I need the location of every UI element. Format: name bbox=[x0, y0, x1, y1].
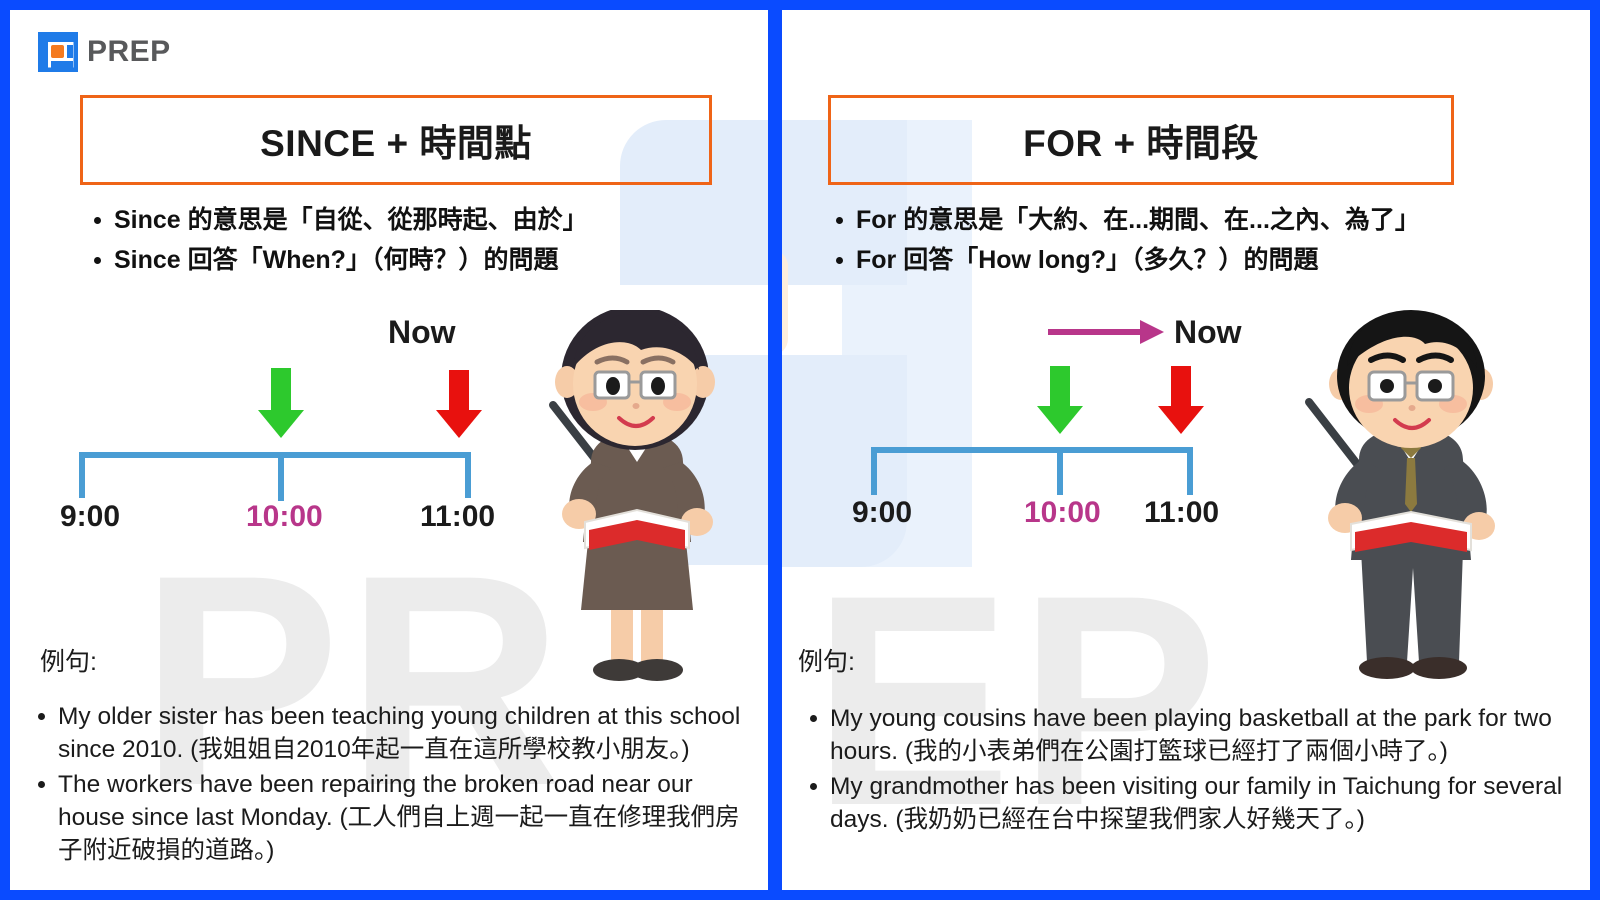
time-tick-label-highlight: 10:00 bbox=[1024, 496, 1101, 530]
definition-bullet: For 的意思是「大約、在...期間、在...之內、為了」 bbox=[830, 200, 1530, 240]
timeline-bracket bbox=[874, 450, 1190, 492]
panel-title: FOR + 時間段 bbox=[1023, 113, 1259, 167]
duration-right-arrow-icon bbox=[1048, 320, 1164, 344]
examples-heading: 例句: bbox=[798, 642, 855, 678]
title-box-since: SINCE + 時間點 bbox=[80, 95, 712, 185]
timeline-diagram-since: Now 9:00 bbox=[60, 310, 530, 560]
example-item: My older sister has been teaching young … bbox=[32, 700, 752, 766]
decorative-peach-shape bbox=[782, 250, 788, 355]
time-tick-label: 11:00 bbox=[1144, 496, 1219, 530]
panel-for: EP FOR + 時間段 For 的意思是「大約、在...期間、在...之內、為… bbox=[782, 10, 1590, 890]
panel-since: PR PREP SINCE + 時間點 Since 的意思是「自從、從那時起、由… bbox=[10, 10, 768, 890]
timeline-bracket bbox=[82, 455, 468, 498]
time-tick-label-highlight: 10:00 bbox=[246, 500, 323, 534]
time-tick-label: 11:00 bbox=[420, 500, 495, 534]
definition-bullet: Since 的意思是「自從、從那時起、由於」 bbox=[88, 200, 728, 240]
definition-bullet: Since 回答「When?」（何時？）的問題 bbox=[88, 240, 728, 280]
definition-bullets: Since 的意思是「自從、從那時起、由於」 Since 回答「When?」（何… bbox=[88, 200, 728, 280]
prep-logo-text: PREP bbox=[87, 35, 171, 69]
red-down-arrow-icon bbox=[436, 370, 482, 438]
prep-logo-icon bbox=[38, 32, 78, 72]
title-box-for: FOR + 時間段 bbox=[828, 95, 1454, 185]
green-down-arrow-icon bbox=[1037, 366, 1083, 434]
example-item: My grandmother has been visiting our fam… bbox=[804, 770, 1579, 836]
prep-logo: PREP bbox=[38, 32, 171, 72]
green-down-arrow-icon bbox=[258, 368, 304, 438]
examples-heading: 例句: bbox=[40, 642, 97, 678]
examples-list: My older sister has been teaching young … bbox=[32, 700, 752, 869]
red-down-arrow-icon bbox=[1158, 366, 1204, 434]
example-item: The workers have been repairing the brok… bbox=[32, 768, 752, 867]
female-teacher-icon bbox=[515, 310, 755, 705]
definition-bullets: For 的意思是「大約、在...期間、在...之內、為了」 For 回答「How… bbox=[830, 200, 1530, 280]
panel-title: SINCE + 時間點 bbox=[260, 113, 532, 167]
definition-bullet: For 回答「How long?」（多久？）的問題 bbox=[830, 240, 1530, 280]
time-tick-label: 9:00 bbox=[60, 500, 120, 534]
infographic-frame: PR PREP SINCE + 時間點 Since 的意思是「自從、從那時起、由… bbox=[0, 0, 1600, 900]
male-teacher-icon bbox=[1287, 310, 1537, 705]
time-tick-label: 9:00 bbox=[852, 496, 912, 530]
timeline-diagram-for: Now bbox=[852, 310, 1282, 560]
example-item: My young cousins have been playing baske… bbox=[804, 702, 1579, 768]
examples-list: My young cousins have been playing baske… bbox=[804, 702, 1579, 838]
